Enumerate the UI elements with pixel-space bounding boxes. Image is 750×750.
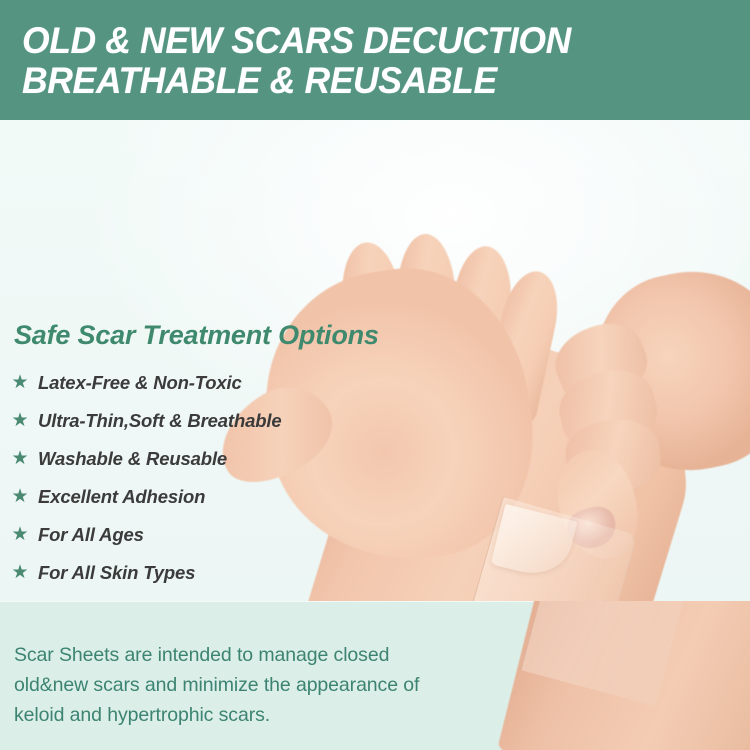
feature-label: Washable & Reusable <box>38 448 227 470</box>
list-item: ★ For All Skin Types <box>10 554 430 592</box>
headline-line-1: OLD & NEW SCARS DECUCTION <box>22 22 571 59</box>
feature-label: Latex-Free & Non-Toxic <box>38 372 242 394</box>
feature-list: ★ Latex-Free & Non-Toxic ★ Ultra-Thin,So… <box>10 364 430 592</box>
list-item: ★ Excellent Adhesion <box>10 478 430 516</box>
feature-label: Ultra-Thin,Soft & Breathable <box>38 410 282 432</box>
star-icon: ★ <box>10 525 30 545</box>
section-heading: Safe Scar Treatment Options <box>14 320 379 351</box>
product-banner: OLD & NEW SCARS DECUCTION BREATHABLE & R… <box>0 0 750 750</box>
list-item: ★ Ultra-Thin,Soft & Breathable <box>10 402 430 440</box>
star-icon: ★ <box>10 411 30 431</box>
list-item: ★ Latex-Free & Non-Toxic <box>10 364 430 402</box>
header-band: OLD & NEW SCARS DECUCTION BREATHABLE & R… <box>0 0 750 120</box>
caption-line-1: Scar Sheets are intended to manage close… <box>14 640 484 670</box>
feature-label: Excellent Adhesion <box>38 486 205 508</box>
star-icon: ★ <box>10 449 30 469</box>
feature-label: For All Ages <box>38 524 144 546</box>
star-icon: ★ <box>10 563 30 583</box>
headline-line-2: BREATHABLE & REUSABLE <box>22 62 497 99</box>
list-item: ★ Washable & Reusable <box>10 440 430 478</box>
caption-line-2: old&new scars and minimize the appearanc… <box>14 670 484 700</box>
caption-line-3: keloid and hypertrophic scars. <box>14 700 484 730</box>
feature-label: For All Skin Types <box>38 562 195 584</box>
caption-text: Scar Sheets are intended to manage close… <box>14 640 484 730</box>
list-item: ★ For All Ages <box>10 516 430 554</box>
star-icon: ★ <box>10 487 30 507</box>
star-icon: ★ <box>10 373 30 393</box>
